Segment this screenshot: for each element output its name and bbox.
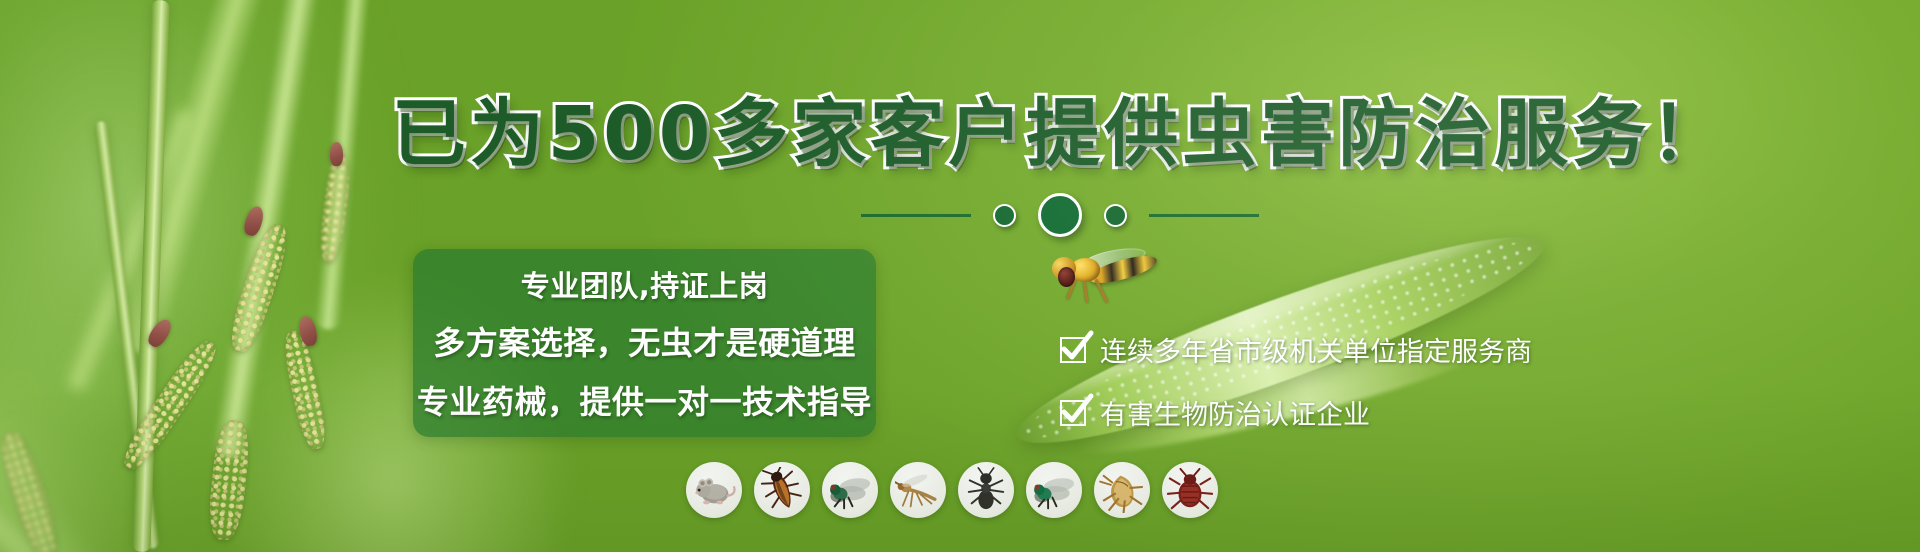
banner-headline-text: 已为500多家客户提供虫害防治服务！ xyxy=(392,91,1728,177)
insect-head xyxy=(1052,257,1076,280)
flea-icon xyxy=(1099,467,1145,513)
pest-icon-row xyxy=(686,462,1218,518)
divider-dot-small-left xyxy=(993,204,1016,227)
greenbottle-fly-icon xyxy=(1031,467,1077,513)
claims-panel: 专业团队,持证上岗 多方案选择，无虫才是硬道理 专业药械，提供一对一技术指导 xyxy=(413,249,876,437)
ant-icon xyxy=(963,467,1009,513)
insect-eye xyxy=(1058,267,1075,287)
certification-label: 连续多年省市级机关单位指定服务商 xyxy=(1100,330,1532,369)
mouse-icon xyxy=(691,467,737,513)
claim-line-1: 专业团队,持证上岗 xyxy=(521,263,769,305)
insect-leg xyxy=(1082,279,1088,303)
pest-icon-flea[interactable] xyxy=(1094,462,1150,518)
bedbug-icon xyxy=(1167,467,1213,513)
promotional-banner: 已为500多家客户提供虫害防治服务！ 专业团队,持证上岗 多方案选择，无虫才是硬… xyxy=(0,0,1920,552)
pest-icon-cockroach[interactable] xyxy=(754,462,810,518)
decorative-divider xyxy=(0,193,1920,237)
certification-item: 有害生物防治认证企业 xyxy=(1060,393,1532,432)
pest-icon-greenbottle-fly[interactable] xyxy=(1026,462,1082,518)
divider-dot-small-right xyxy=(1104,204,1127,227)
checkbox-checked-icon xyxy=(1060,337,1086,363)
checkbox-checked-icon xyxy=(1060,400,1086,426)
pest-icon-mosquito[interactable] xyxy=(890,462,946,518)
claim-line-2: 多方案选择，无虫才是硬道理 xyxy=(433,318,856,364)
pest-icon-mouse[interactable] xyxy=(686,462,742,518)
certification-label: 有害生物防治认证企业 xyxy=(1100,393,1370,432)
hoverfly-photo xyxy=(1044,248,1160,300)
certification-list: 连续多年省市级机关单位指定服务商 有害生物防治认证企业 xyxy=(1060,330,1532,432)
cockroach-icon xyxy=(759,467,805,513)
pest-icon-housefly[interactable] xyxy=(822,462,878,518)
certification-item: 连续多年省市级机关单位指定服务商 xyxy=(1060,330,1532,369)
housefly-icon xyxy=(827,467,873,513)
claim-line-3: 专业药械，提供一对一技术指导 xyxy=(417,377,872,423)
divider-dot-large xyxy=(1038,193,1082,237)
pest-icon-ant[interactable] xyxy=(958,462,1014,518)
divider-rule-right xyxy=(1149,214,1259,217)
pest-icon-bedbug[interactable] xyxy=(1162,462,1218,518)
banner-headline: 已为500多家客户提供虫害防治服务！ xyxy=(0,74,1920,181)
mosquito-icon xyxy=(895,467,941,513)
divider-rule-left xyxy=(861,214,971,217)
